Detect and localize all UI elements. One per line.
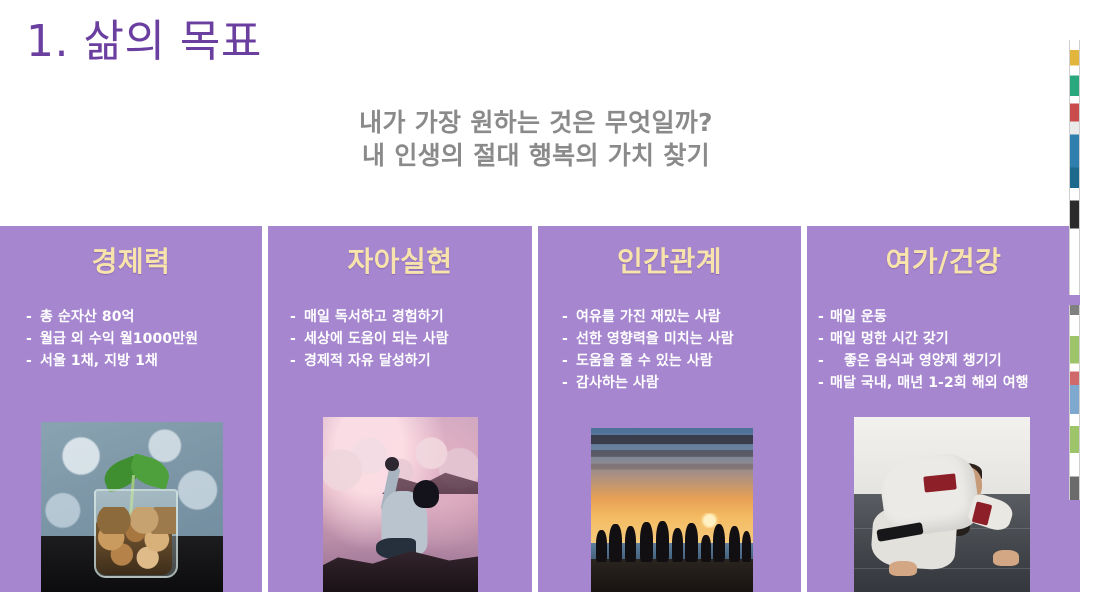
list-item: -매일 멍한 시간 갖기 — [818, 328, 1029, 350]
bullet-dash-icon: - — [26, 350, 40, 372]
list-item-text: 서울 1채, 지방 1채 — [40, 353, 158, 369]
bullet-dash-icon: - — [562, 328, 576, 350]
goal-columns-band: 경제력 -총 순자산 80억 -월급 외 수익 월1000만원 -서울 1채, … — [0, 226, 1074, 592]
list-item-text: 선한 영향력을 미치는 사람 — [576, 331, 734, 347]
goal-column-leisure-health[interactable]: 여가/건강 -매일 운동 -매일 멍한 시간 갖기 -좋은 음식과 영양제 챙기… — [807, 226, 1080, 592]
bullet-dash-icon: - — [818, 306, 830, 328]
silhouette-group — [591, 510, 753, 562]
list-item-text: 매일 멍한 시간 갖기 — [830, 331, 949, 347]
list-item: -총 순자산 80억 — [26, 306, 198, 328]
list-item-text: 매달 국내, 매년 1-2회 해외 여행 — [830, 375, 1029, 391]
page-title: 1. 삶의 목표 — [26, 13, 262, 71]
column-bullet-list: -매일 독서하고 경험하기 -세상에 도움이 되는 사람 -경제적 자유 달성하… — [290, 306, 449, 372]
list-item: -매일 독서하고 경험하기 — [290, 306, 449, 328]
column-heading: 여가/건강 — [807, 240, 1080, 280]
bullet-dash-icon: - — [26, 306, 40, 328]
list-item: -선한 영향력을 미치는 사람 — [562, 328, 734, 350]
coins-in-glass-with-sprout-photo — [41, 422, 223, 592]
list-item-text: 세상에 도움이 되는 사람 — [304, 331, 449, 347]
bullet-dash-icon: - — [562, 350, 576, 372]
adjacent-slide-sliver-top — [1069, 40, 1080, 295]
list-item: -여유를 가진 재밌는 사람 — [562, 306, 734, 328]
column-heading: 인간관계 — [538, 240, 801, 280]
list-item-text: 여유를 가진 재밌는 사람 — [576, 309, 721, 325]
bullet-dash-icon: - — [562, 306, 576, 328]
jiu-jitsu-grappling-photo — [854, 417, 1030, 592]
column-heading: 경제력 — [0, 240, 262, 280]
bullet-dash-icon: - — [818, 372, 830, 394]
list-item: -매달 국내, 매년 1-2회 해외 여행 — [818, 372, 1029, 394]
people-holding-hands-at-sunset-photo — [591, 428, 753, 592]
goal-column-self-realization[interactable]: 자아실현 -매일 독서하고 경험하기 -세상에 도움이 되는 사람 -경제적 자… — [268, 226, 532, 592]
slide-subtitle: 내가 가장 원하는 것은 무엇일까? 내 인생의 절대 행복의 가치 찾기 — [0, 106, 1072, 172]
list-item-text: 경제적 자유 달성하기 — [304, 353, 431, 369]
goal-column-relationships[interactable]: 인간관계 -여유를 가진 재밌는 사람 -선한 영향력을 미치는 사람 -도움을… — [538, 226, 801, 592]
list-item: -도움을 줄 수 있는 사람 — [562, 350, 734, 372]
list-item-text: 도움을 줄 수 있는 사람 — [576, 353, 713, 369]
column-bullet-list: -총 순자산 80억 -월급 외 수익 월1000만원 -서울 1채, 지방 1… — [26, 306, 198, 372]
goal-column-economy[interactable]: 경제력 -총 순자산 80억 -월급 외 수익 월1000만원 -서울 1채, … — [0, 226, 262, 592]
bullet-dash-icon: - — [290, 328, 304, 350]
column-bullet-list: -여유를 가진 재밌는 사람 -선한 영향력을 미치는 사람 -도움을 줄 수 … — [562, 306, 734, 394]
list-item-text: 매일 독서하고 경험하기 — [304, 309, 444, 325]
list-item: -월급 외 수익 월1000만원 — [26, 328, 198, 350]
list-item: -감사하는 사람 — [562, 372, 734, 394]
adjacent-slide-sliver-bottom — [1069, 305, 1080, 500]
list-item: -매일 운동 — [818, 306, 1029, 328]
bullet-dash-icon: - — [290, 350, 304, 372]
subtitle-line-1: 내가 가장 원하는 것은 무엇일까? — [0, 106, 1072, 139]
list-item-text: 좋은 음식과 영양제 챙기기 — [844, 353, 1002, 369]
column-bullet-list: -매일 운동 -매일 멍한 시간 갖기 -좋은 음식과 영양제 챙기기 -매달 … — [818, 306, 1029, 394]
person-raising-fist-on-mountain-photo — [323, 417, 478, 592]
slide-canvas: 1. 삶의 목표 내가 가장 원하는 것은 무엇일까? 내 인생의 절대 행복의… — [0, 0, 1094, 615]
list-item: -서울 1채, 지방 1채 — [26, 350, 198, 372]
column-heading: 자아실현 — [268, 240, 532, 280]
list-item-text: 총 순자산 80억 — [40, 309, 135, 325]
list-item-text: 감사하는 사람 — [576, 375, 659, 391]
bullet-dash-icon: - — [818, 350, 844, 372]
bullet-dash-icon: - — [290, 306, 304, 328]
list-item-text: 매일 운동 — [830, 309, 887, 325]
list-item: -세상에 도움이 되는 사람 — [290, 328, 449, 350]
bullet-dash-icon: - — [818, 328, 830, 350]
bullet-dash-icon: - — [26, 328, 40, 350]
list-item-text: 월급 외 수익 월1000만원 — [40, 331, 198, 347]
subtitle-line-2: 내 인생의 절대 행복의 가치 찾기 — [0, 139, 1072, 172]
list-item: -좋은 음식과 영양제 챙기기 — [818, 350, 1029, 372]
list-item: -경제적 자유 달성하기 — [290, 350, 449, 372]
bullet-dash-icon: - — [562, 372, 576, 394]
